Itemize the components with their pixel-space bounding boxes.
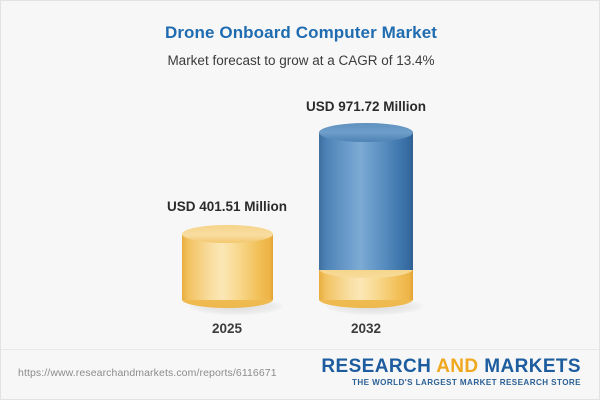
footer-divider [1,349,600,350]
chart-subtitle: Market forecast to grow at a CAGR of 13.… [1,53,600,68]
logo-word-and: AND [436,356,478,377]
cylinder-growth-segment-2032 [319,132,413,270]
chart-title: Drone Onboard Computer Market [1,23,600,43]
logo-word-research: RESEARCH [321,356,431,377]
bar-group-2032: USD 971.72 Million 2032 [236,81,496,346]
cylinder-top-2032 [319,123,413,142]
logo-wordmark: RESEARCH AND MARKETS [321,357,581,376]
plot-area: USD 401.51 Million 2025 USD 971.72 Milli… [1,81,600,346]
cylinder-2032 [319,118,413,313]
brand-logo: RESEARCH AND MARKETS THE WORLD'S LARGEST… [321,357,581,387]
logo-tagline: THE WORLD'S LARGEST MARKET RESEARCH STOR… [321,379,581,387]
report-url[interactable]: https://www.researchandmarkets.com/repor… [18,367,277,379]
chart-card: Drone Onboard Computer Market Market for… [0,0,600,400]
value-label-2032: USD 971.72 Million [236,99,496,114]
logo-word-markets: MARKETS [484,356,581,377]
year-label-2032: 2032 [236,321,496,336]
